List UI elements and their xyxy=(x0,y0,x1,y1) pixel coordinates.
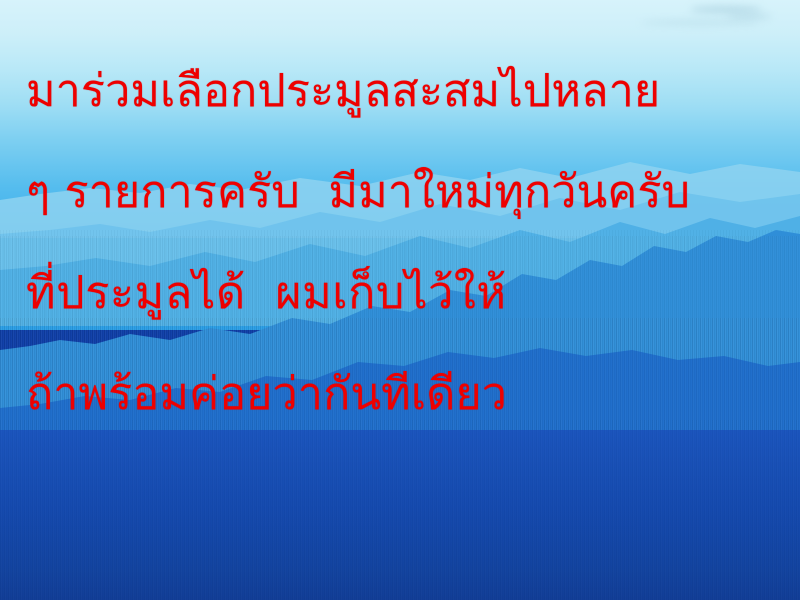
caption-line-2: ๆ รายการครับ มีมาใหม่ทุกวันครับ xyxy=(26,141,800,242)
caption-line-4: ถ้าพร้อมค่อยว่ากันทีเดียว xyxy=(26,343,800,444)
caption-overlay: มาร่วมเลือกประมูลสะสมไปหลาย ๆ รายการครับ… xyxy=(0,0,800,600)
caption-line-3: ที่ประมูลได้ ผมเก็บไว้ให้ xyxy=(26,242,800,343)
caption-line-1: มาร่วมเลือกประมูลสะสมไปหลาย xyxy=(26,40,800,141)
image-canvas: มาร่วมเลือกประมูลสะสมไปหลาย ๆ รายการครับ… xyxy=(0,0,800,600)
